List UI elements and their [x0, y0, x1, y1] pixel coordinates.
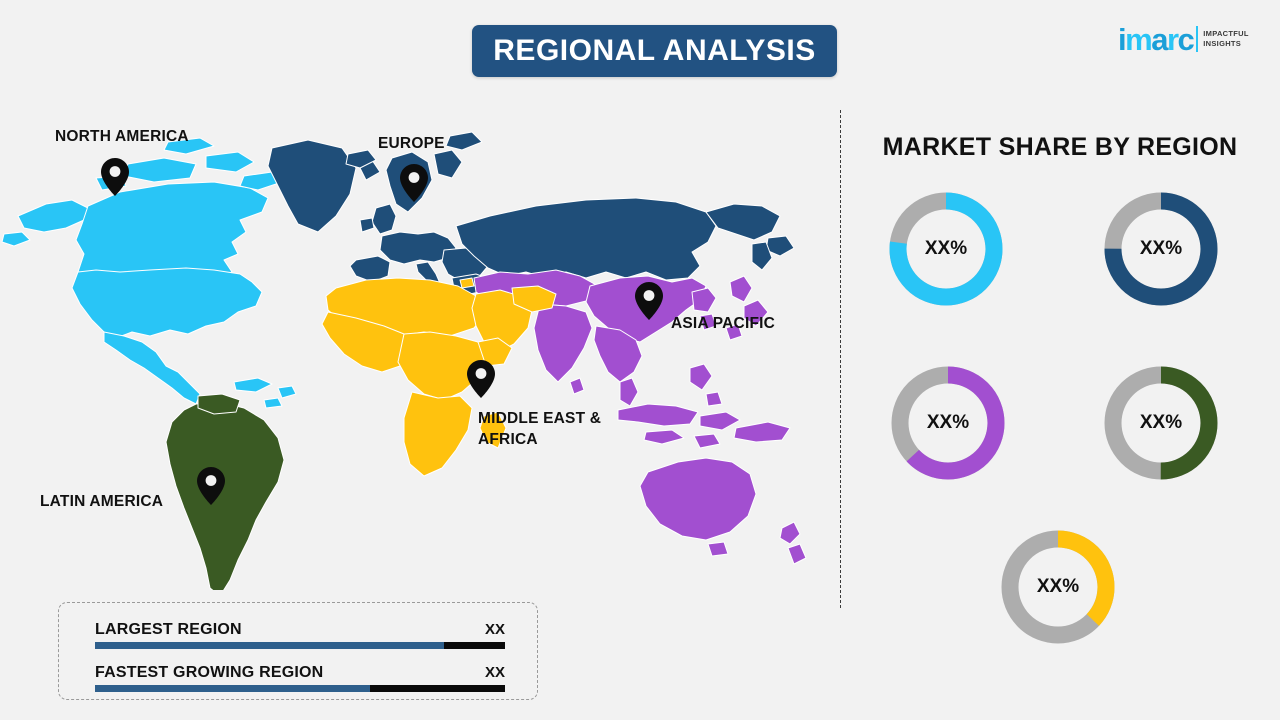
map-region-north-america	[2, 138, 296, 426]
market-share-panel-title: MARKET SHARE BY REGION	[840, 133, 1280, 162]
donut-chart-latin-america: XX%	[1104, 366, 1218, 480]
legend-row-header: FASTEST GROWING REGION XX	[95, 664, 505, 682]
legend-value-fastest-growing-region: XX	[485, 664, 505, 681]
donut-value-north-america: XX%	[889, 192, 1003, 306]
logo-wordmark: imarc	[1118, 24, 1193, 55]
logo-letter-m: m	[1125, 22, 1151, 57]
map-label-north-america: NORTH AMERICA	[55, 126, 189, 147]
donut-chart-north-america: XX%	[889, 192, 1003, 306]
map-region-europe	[346, 132, 794, 294]
legend-value-largest-region: XX	[485, 621, 505, 638]
legend-row-largest-region: LARGEST REGION XX	[95, 621, 505, 649]
logo-divider	[1196, 26, 1198, 52]
donut-chart-europe: XX%	[1104, 192, 1218, 306]
legend-bar-fill-largest-region	[95, 642, 444, 649]
legend-bar-track-largest-region	[95, 642, 505, 649]
donut-value-europe: XX%	[1104, 192, 1218, 306]
infographic-canvas: REGIONAL ANALYSIS imarc IMPACTFUL INSIGH…	[0, 0, 1280, 720]
logo-tagline: IMPACTFUL INSIGHTS	[1203, 29, 1248, 49]
map-label-latin-america: LATIN AMERICA	[40, 491, 163, 512]
donut-value-asia-pacific: XX%	[891, 366, 1005, 480]
map-pin-middle-east-africa[interactable]	[466, 359, 496, 404]
map-pin-north-america[interactable]	[100, 157, 130, 202]
legend-label-largest-region: LARGEST REGION	[95, 621, 242, 639]
donut-chart-middle-east-africa: XX%	[1001, 530, 1115, 644]
page-title: REGIONAL ANALYSIS	[472, 25, 837, 77]
logo-letter-c: c	[1178, 22, 1194, 57]
logo-letter-r: r	[1167, 22, 1178, 57]
page-title-text: REGIONAL ANALYSIS	[493, 34, 815, 68]
map-pin-latin-america[interactable]	[196, 466, 226, 511]
legend-row-header: LARGEST REGION XX	[95, 621, 505, 639]
donut-value-middle-east-africa: XX%	[1001, 530, 1115, 644]
map-label-europe: EUROPE	[378, 133, 445, 154]
legend-bar-fill-fastest-growing-region	[95, 685, 370, 692]
logo-tagline-line2: INSIGHTS	[1203, 39, 1248, 49]
legend-label-fastest-growing-region: FASTEST GROWING REGION	[95, 664, 323, 682]
logo-tagline-line1: IMPACTFUL	[1203, 29, 1248, 39]
map-label-asia-pacific: ASIA PACIFIC	[671, 313, 775, 334]
legend-row-fastest-growing-region: FASTEST GROWING REGION XX	[95, 664, 505, 692]
legend-bar-track-fastest-growing-region	[95, 685, 505, 692]
donut-value-latin-america: XX%	[1104, 366, 1218, 480]
map-pin-asia-pacific[interactable]	[634, 281, 664, 326]
donut-chart-asia-pacific: XX%	[891, 366, 1005, 480]
region-summary-box: LARGEST REGION XX FASTEST GROWING REGION…	[58, 602, 538, 700]
logo-letter-a: a	[1151, 22, 1167, 57]
panel-divider	[840, 110, 841, 608]
map-label-middle-east-africa: MIDDLE EAST & AFRICA	[478, 408, 601, 450]
imarc-logo: imarc IMPACTFUL INSIGHTS	[1118, 22, 1249, 56]
map-pin-europe[interactable]	[399, 163, 429, 208]
